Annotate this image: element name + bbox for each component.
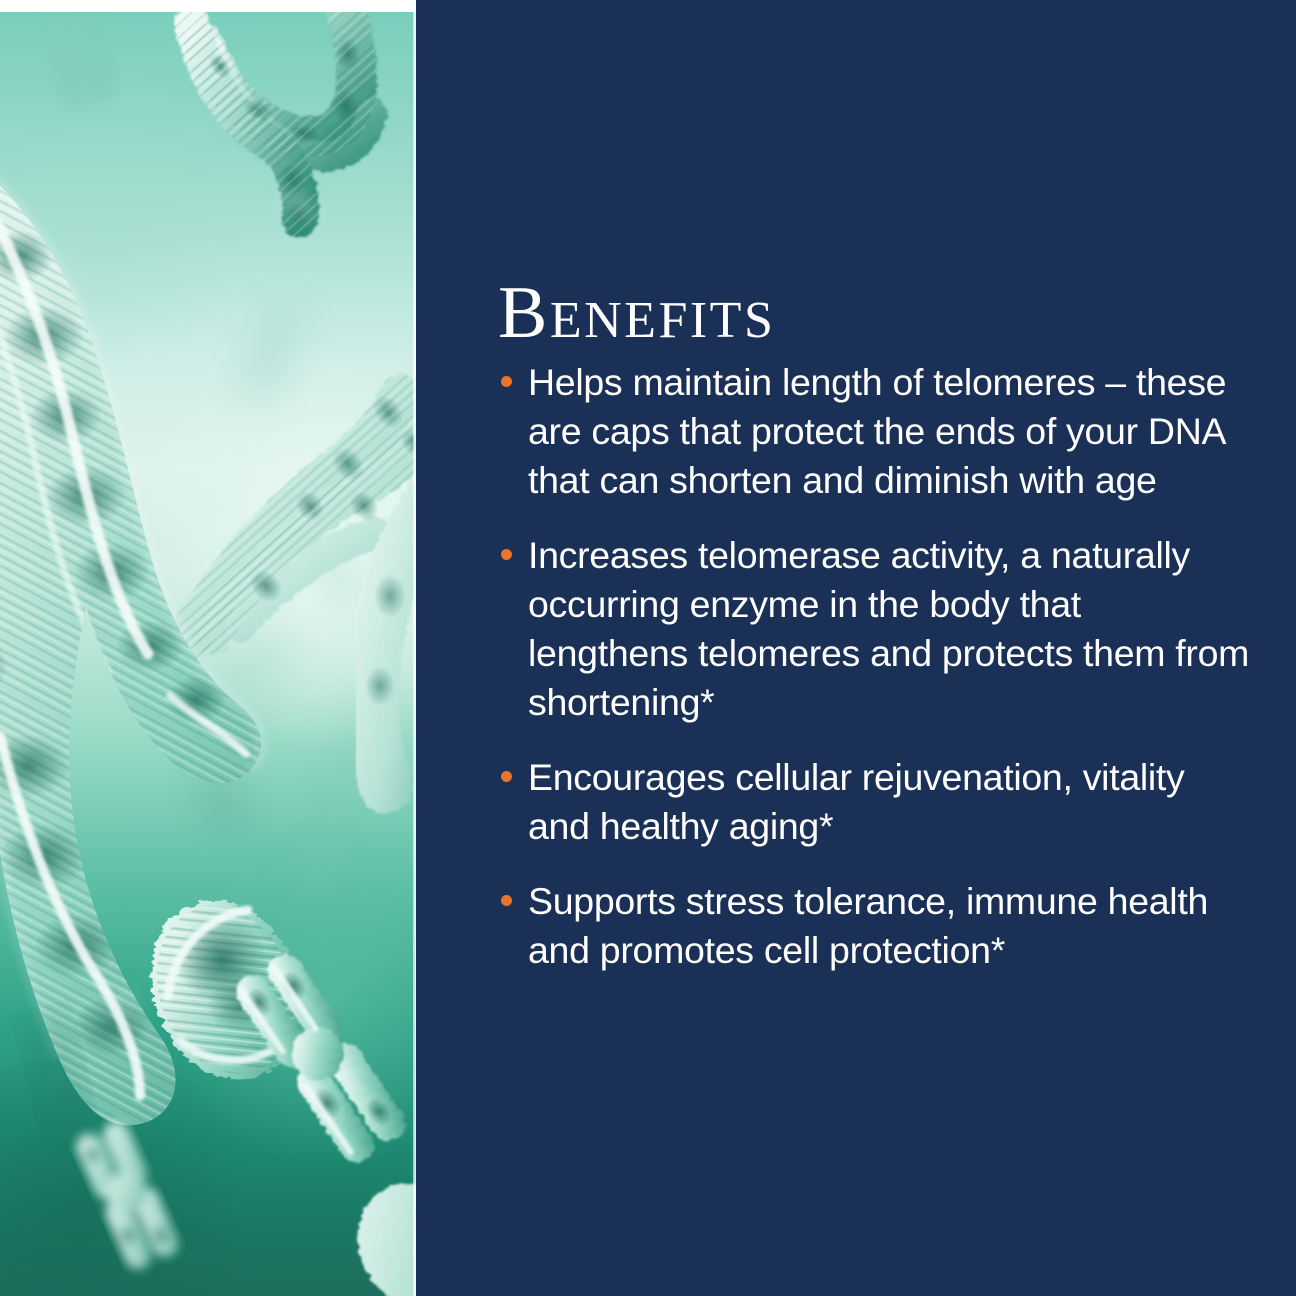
image-top-white-strip xyxy=(0,6,416,12)
list-item: Encourages cellular rejuvenation, vitali… xyxy=(494,753,1250,851)
chromosome-image xyxy=(0,6,416,1296)
benefits-marketing-panel: Benefits Helps maintain length of telome… xyxy=(0,0,1296,1296)
benefit-text: Supports stress tolerance, immune health… xyxy=(528,877,1250,975)
bullet-dot-icon xyxy=(501,771,512,782)
bullet-dot-icon xyxy=(501,376,512,387)
chromosome-image-panel xyxy=(0,0,416,1296)
list-item: Increases telomerase activity, a natural… xyxy=(494,531,1250,727)
benefit-text: Helps maintain length of telomeres – the… xyxy=(528,358,1250,505)
list-item: Helps maintain length of telomeres – the… xyxy=(494,358,1250,505)
benefits-list: Helps maintain length of telomeres – the… xyxy=(494,358,1250,975)
benefit-text: Increases telomerase activity, a natural… xyxy=(528,531,1250,727)
benefit-text: Encourages cellular rejuvenation, vitali… xyxy=(528,753,1250,851)
chromosome-illustration-svg xyxy=(0,6,416,1296)
benefits-content-panel: Benefits Helps maintain length of telome… xyxy=(416,0,1296,1296)
list-item: Supports stress tolerance, immune health… xyxy=(494,877,1250,975)
bullet-dot-icon xyxy=(501,549,512,560)
bullet-dot-icon xyxy=(501,895,512,906)
page-title: Benefits xyxy=(498,276,775,350)
